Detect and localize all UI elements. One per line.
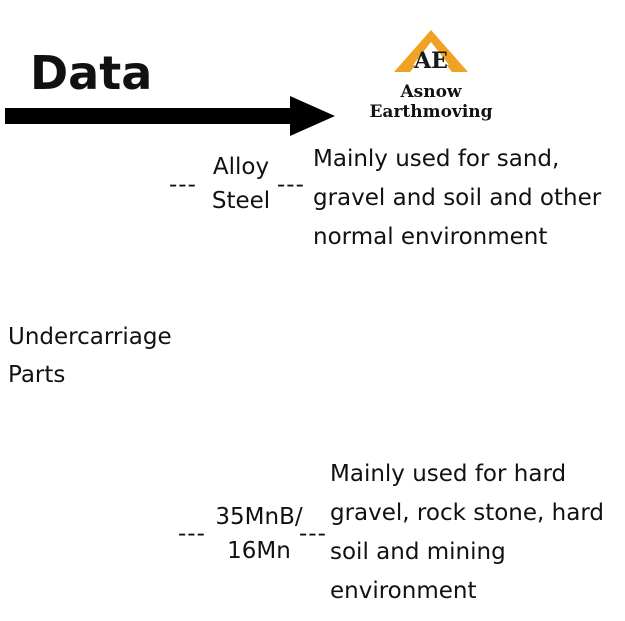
connector-dash-right-1: ---: [277, 172, 305, 198]
svg-text:AE: AE: [413, 48, 448, 74]
right-arrow-icon: [5, 96, 335, 136]
connector-dash-left-1: ---: [169, 172, 197, 198]
brand-name: Asnow Earthmoving: [337, 82, 525, 122]
branch-description-2: Mainly used for hard gravel, rock stone,…: [330, 455, 625, 611]
root-node-label: Undercarriage Parts: [8, 318, 218, 394]
branch-material-1: Alloy Steel: [196, 150, 286, 218]
branch-description-1: Mainly used for sand, gravel and soil an…: [313, 140, 613, 257]
brand-logo: AE Asnow Earthmoving: [337, 0, 525, 125]
page-title: Data: [30, 46, 152, 100]
connector-dash-right-2: ---: [299, 521, 327, 547]
ae-monogram-icon: AE: [392, 28, 470, 76]
